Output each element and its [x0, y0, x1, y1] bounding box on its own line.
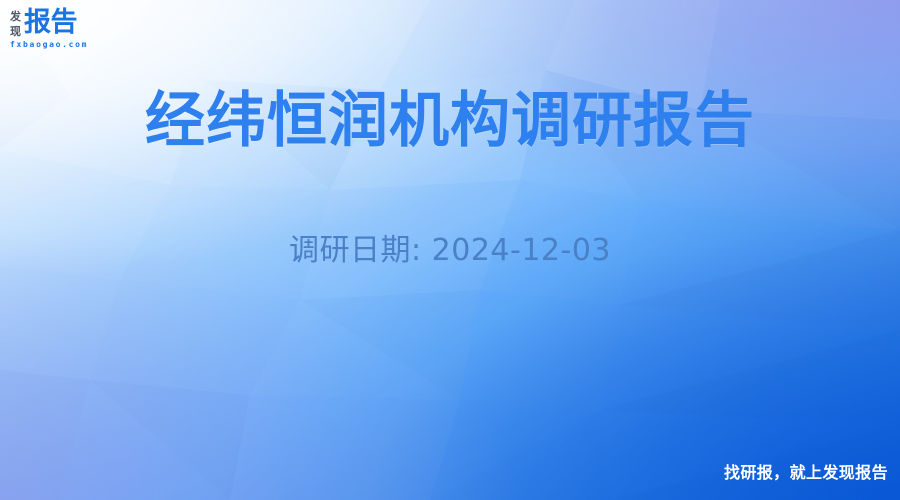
survey-date-subtitle: 调研日期: 2024-12-03 [0, 229, 900, 273]
logo-mark-char-top: 发 [10, 10, 21, 23]
logo-domain-text: fxbaogao.com [10, 40, 106, 50]
page-title: 经纬恒润机构调研报告 [0, 84, 900, 158]
logo-mark-characters: 发 现 [10, 9, 21, 38]
report-cover: 发 现 报告 fxbaogao.com 经纬恒润机构调研报告 调研日期: 202… [0, 0, 900, 500]
logo-mark-char-bottom: 现 [10, 25, 21, 38]
logo-lockup: 发 现 报告 [10, 9, 106, 38]
footer-tagline: 找研报，就上发现报告 [724, 463, 888, 483]
logo-wordmark: 报告 [24, 9, 77, 37]
brand-logo[interactable]: 发 现 报告 fxbaogao.com [10, 9, 106, 50]
